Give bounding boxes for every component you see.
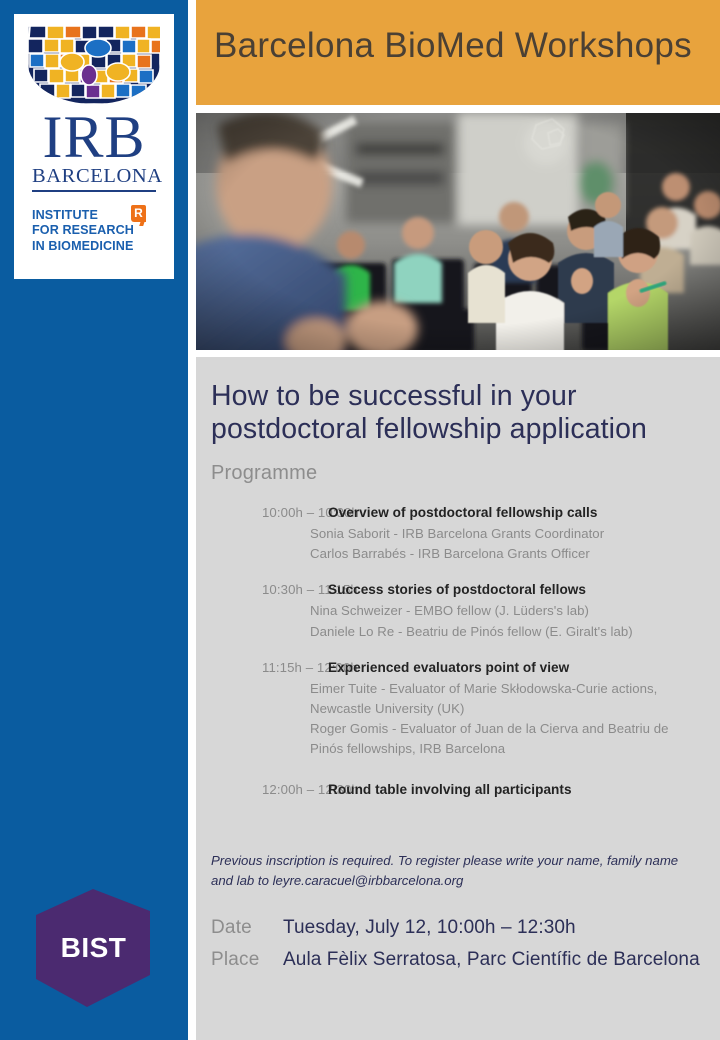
detail-value: Tuesday, July 12, 10:00h – 12:30h (283, 917, 576, 939)
irb-tagline: INSTITUTE FOR RESEARCH IN BIOMEDICINE R (28, 208, 160, 254)
programme-item: 12:00h – 12:30h Round table involving al… (196, 782, 720, 797)
tagline-line-1: INSTITUTE (32, 208, 134, 223)
header-band: Barcelona BioMed Workshops (196, 0, 720, 105)
bist-logo: BIST (32, 889, 155, 1007)
bist-label: BIST (32, 889, 155, 1007)
programme-item: 10:00h – 10:30h Overview of postdoctoral… (196, 505, 720, 564)
detail-value: Aula Fèlix Serratosa, Parc Científic de … (283, 949, 700, 971)
detail-label: Place (211, 949, 283, 971)
session-time: 12:00h – 12:30h (196, 782, 328, 797)
session-speakers: Nina Schweizer - EMBO fellow (J. Lüders'… (196, 601, 720, 641)
page-title: How to be successful in your postdoctora… (211, 380, 711, 447)
registration-note: Previous inscription is required. To reg… (211, 851, 695, 891)
irb-acronym: IRB (42, 108, 145, 167)
tagline-line-3: IN BIOMEDICINE (32, 239, 134, 254)
session-title: Overview of postdoctoral fellowship call… (328, 505, 597, 520)
speaker: Nina Schweizer - EMBO fellow (J. Lüders'… (310, 601, 684, 621)
session-title: Experienced evaluators point of view (328, 660, 569, 675)
gaudi-mosaic-icon (28, 26, 160, 104)
content-panel: How to be successful in your postdoctora… (196, 357, 720, 1040)
irb-barcelona-logo: IRB BARCELONA INSTITUTE FOR RESEARCH IN … (14, 14, 174, 279)
programme-item: 11:15h – 12:00h Experienced evaluators p… (196, 660, 720, 760)
tagline-line-2: FOR RESEARCH (32, 223, 134, 238)
event-details: Date Tuesday, July 12, 10:00h – 12:30h P… (211, 917, 711, 981)
session-speakers: Sonia Saborit - IRB Barcelona Grants Coo… (196, 524, 720, 564)
session-title: Success stories of postdoctoral fellows (328, 582, 586, 597)
speaker: Sonia Saborit - IRB Barcelona Grants Coo… (310, 524, 684, 544)
detail-row-place: Place Aula Fèlix Serratosa, Parc Científ… (211, 949, 711, 971)
session-time: 10:00h – 10:30h (196, 505, 328, 520)
detail-label: Date (211, 917, 283, 939)
programme-item: 10:30h – 11:15h Success stories of postd… (196, 582, 720, 641)
header-title: Barcelona BioMed Workshops (214, 26, 692, 66)
speaker: Daniele Lo Re - Beatriu de Pinós fellow … (310, 622, 684, 642)
detail-row-date: Date Tuesday, July 12, 10:00h – 12:30h (211, 917, 711, 939)
session-time: 10:30h – 11:15h (196, 582, 328, 597)
speaker: Carlos Barrabés - IRB Barcelona Grants O… (310, 544, 684, 564)
poster: IRB BARCELONA INSTITUTE FOR RESEARCH IN … (0, 0, 720, 1040)
audience-photo (196, 113, 720, 350)
session-time: 11:15h – 12:00h (196, 660, 328, 675)
programme-list: 10:00h – 10:30h Overview of postdoctoral… (196, 505, 720, 815)
speaker: Eimer Tuite - Evaluator of Marie Skłodow… (310, 679, 684, 719)
registered-r-icon: R (131, 205, 146, 222)
main-column: Barcelona BioMed Workshops (196, 0, 720, 1040)
session-speakers: Eimer Tuite - Evaluator of Marie Skłodow… (196, 679, 720, 760)
programme-label: Programme (211, 462, 317, 485)
irb-city: BARCELONA (32, 165, 156, 192)
session-title: Round table involving all participants (328, 782, 572, 797)
speaker: Roger Gomis - Evaluator of Juan de la Ci… (310, 719, 684, 759)
